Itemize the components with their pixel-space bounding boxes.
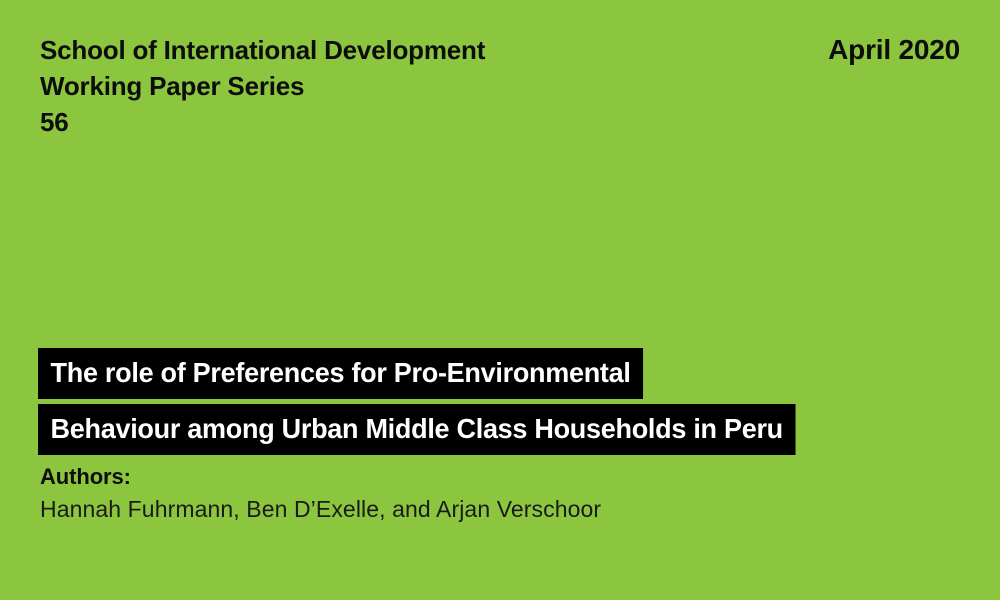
series-name: Working Paper Series — [40, 68, 660, 104]
publication-date: April 2020 — [828, 32, 960, 68]
authors-names: Hannah Fuhrmann, Ben D’Exelle, and Arjan… — [40, 492, 601, 526]
paper-title: The role of Preferences for Pro-Environm… — [38, 348, 980, 455]
working-paper-cover: School of International Development Work… — [0, 0, 1000, 600]
series-header: School of International Development Work… — [40, 32, 660, 140]
series-number: 56 — [40, 104, 660, 140]
title-line-1: The role of Preferences for Pro-Environm… — [38, 348, 643, 399]
school-name: School of International Development — [40, 32, 660, 68]
authors-section: Authors: Hannah Fuhrmann, Ben D’Exelle, … — [40, 462, 601, 526]
authors-label: Authors: — [40, 462, 601, 492]
title-line-2: Behaviour among Urban Middle Class House… — [38, 404, 795, 455]
